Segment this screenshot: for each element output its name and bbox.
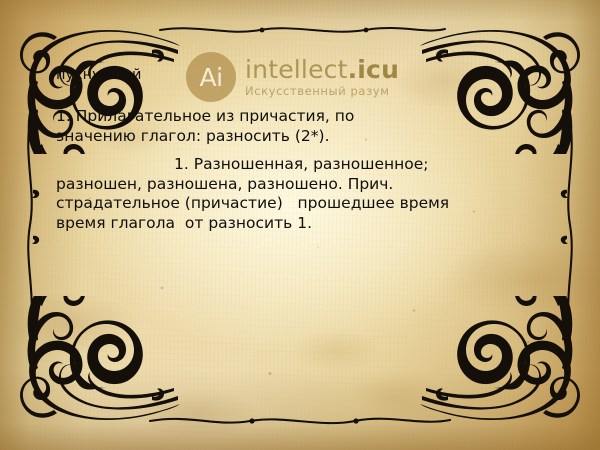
definition-2-body: разношен, разношена, разношено. Прич. ст… — [56, 175, 449, 233]
parchment-page: Ai intellect.icu Искусственный разум пух… — [0, 0, 600, 450]
definition-1: 1. Прилагательное из причастия, по значе… — [56, 107, 536, 147]
definition-2-label: 1. Разношенная, разношенное; — [174, 155, 429, 173]
dictionary-entry: пухнувший 1. Прилагательное из причастия… — [56, 66, 536, 234]
headword: пухнувший — [56, 66, 536, 84]
corner-flourish-bottom-left — [2, 296, 192, 446]
definition-2: 1. Разношенная, разношенное; разношен, р… — [56, 155, 536, 234]
corner-flourish-bottom-right — [408, 296, 598, 446]
